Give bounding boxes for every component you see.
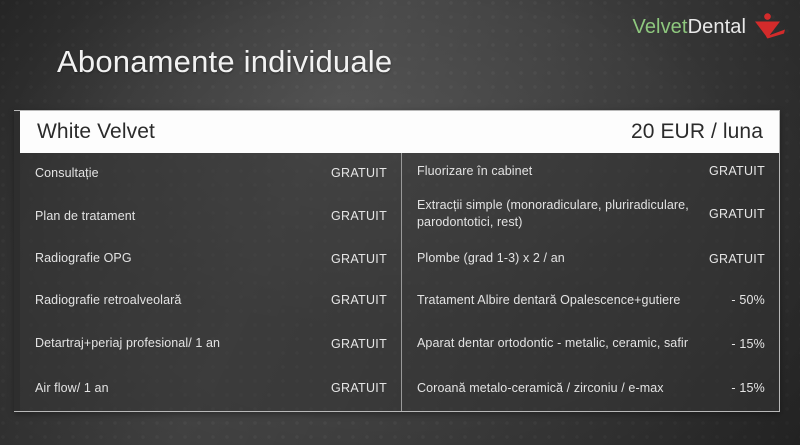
benefit-value: GRATUIT [709,252,765,266]
benefit-value: GRATUIT [331,293,387,307]
brand-wordmark: VelvetDental [632,16,746,39]
benefit-row: Coroană metalo-ceramică / zirconiu / e-m… [402,366,779,411]
benefit-row: Tratament Albire dentară Opalescence+gut… [402,280,779,322]
benefit-label: Plan de tratament [35,208,145,225]
benefit-row: Fluorizare în cabinet GRATUIT [402,153,779,190]
velvet-dental-figure-icon [752,12,786,42]
benefit-row: Extracții simple (monoradiculare, plurir… [402,190,779,239]
benefit-label: Fluorizare în cabinet [417,163,542,180]
plan-price: 20 EUR / luna [631,120,763,144]
benefit-label: Coroană metalo-ceramică / zirconiu / e-m… [417,380,674,397]
benefit-label: Aparat dentar ortodontic - metalic, cera… [417,335,698,352]
brand-name-velvet: Velvet [632,16,687,38]
benefit-row: Consultație GRATUIT [20,153,401,195]
benefit-value: GRATUIT [331,337,387,351]
plan-benefits: Consultație GRATUIT Plan de tratament GR… [20,153,779,411]
benefit-value: - 50% [731,293,765,307]
benefit-row: Air flow/ 1 an GRATUIT [20,366,401,411]
benefit-row: Aparat dentar ortodontic - metalic, cera… [402,322,779,367]
plan-name: White Velvet [37,120,155,144]
benefit-value: GRATUIT [331,381,387,395]
brand-name-dental: Dental [688,16,746,38]
benefit-row: Detartraj+periaj profesional/ 1 an GRATU… [20,322,401,367]
benefit-value: GRATUIT [331,166,387,180]
plan-header: White Velvet 20 EUR / luna [20,111,779,153]
benefit-label: Radiografie retroalveolară [35,292,191,309]
benefit-row: Radiografie retroalveolară GRATUIT [20,280,401,322]
benefit-label: Air flow/ 1 an [35,380,119,397]
benefit-value: - 15% [731,337,765,351]
benefits-column-right: Fluorizare în cabinet GRATUIT Extracții … [402,153,779,411]
benefit-value: - 15% [731,381,765,395]
benefit-row: Plan de tratament GRATUIT [20,195,401,239]
brand-logo: VelvetDental [632,12,786,42]
benefit-value: GRATUIT [331,209,387,223]
benefit-label: Plombe (grad 1-3) x 2 / an [417,250,575,267]
page-title: Abonamente individuale [57,44,392,80]
benefit-value: GRATUIT [709,164,765,178]
benefit-label: Detartraj+periaj profesional/ 1 an [35,335,230,352]
benefit-label: Consultație [35,165,109,182]
benefit-value: GRATUIT [331,252,387,266]
benefits-column-left: Consultație GRATUIT Plan de tratament GR… [20,153,402,411]
benefit-row: Radiografie OPG GRATUIT [20,238,401,280]
benefit-label: Radiografie OPG [35,250,142,267]
plan-card: White Velvet 20 EUR / luna Consultație G… [14,110,780,412]
benefit-value: GRATUIT [709,207,765,221]
benefit-label: Extracții simple (monoradiculare, plurir… [417,197,709,230]
pricing-slide: VelvetDental Abonamente individuale Whit… [0,0,800,445]
benefit-label: Tratament Albire dentară Opalescence+gut… [417,292,690,309]
benefit-row: Plombe (grad 1-3) x 2 / an GRATUIT [402,238,779,280]
